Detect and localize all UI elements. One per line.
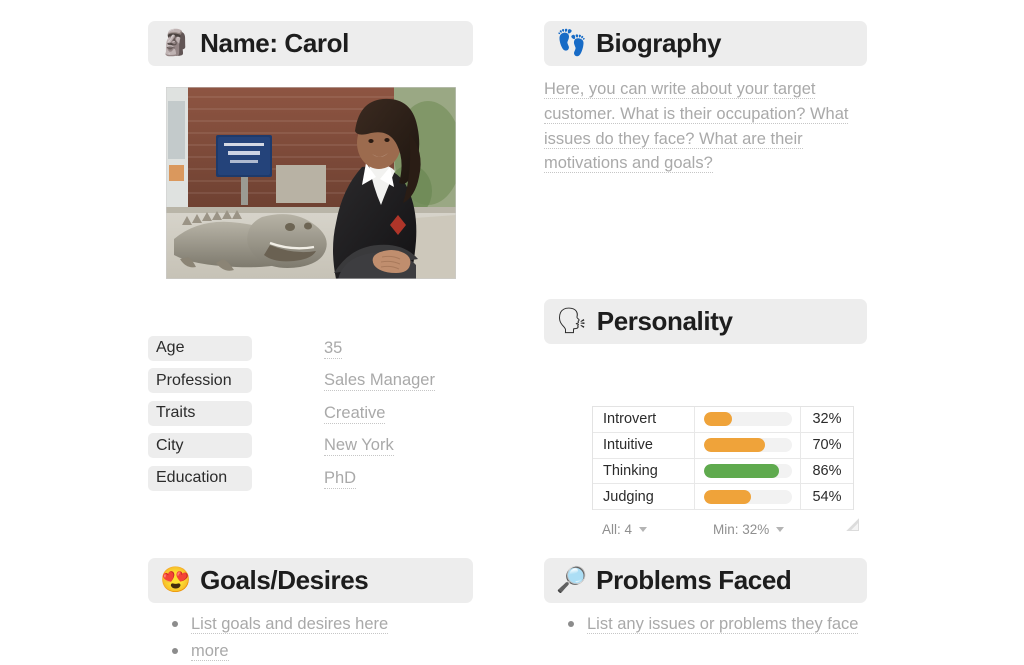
personality-trait-judging: Judging — [593, 484, 695, 509]
smiling-face-with-hearts-icon: 😍 — [160, 568, 191, 593]
chevron-down-icon — [776, 527, 784, 532]
personality-value-judging: 54% — [800, 484, 853, 509]
table-row[interactable]: Thinking 86% — [593, 459, 853, 485]
personality-trait-thinking: Thinking — [593, 459, 695, 484]
attribute-value-traits[interactable]: Creative — [324, 404, 385, 423]
attribute-label-age[interactable]: Age — [148, 336, 252, 361]
section-header-problems[interactable]: 🔎 Problems Faced — [544, 558, 867, 603]
table-row[interactable]: Intuitive 70% — [593, 433, 853, 459]
attribute-value-age[interactable]: 35 — [324, 339, 342, 358]
section-title-name: Name: Carol — [200, 28, 349, 59]
goals-item-0: List goals and desires here — [191, 615, 388, 634]
min-value-dropdown[interactable]: Min: 32% — [713, 522, 784, 537]
personality-value-thinking: 86% — [800, 459, 853, 484]
list-item[interactable]: List goals and desires here — [172, 612, 472, 637]
personality-footer: All: 4 Min: 32% — [592, 520, 854, 538]
footprints-icon: 👣 — [556, 31, 587, 56]
personality-bar-cell-intuitive — [695, 433, 800, 458]
progress-fill-introvert — [704, 412, 732, 426]
attribute-label-traits[interactable]: Traits — [148, 401, 252, 426]
section-title-personality: Personality — [597, 306, 733, 337]
problems-item-text: List any issues or problems they face — [587, 612, 858, 637]
chevron-down-icon — [639, 527, 647, 532]
personality-bar-cell-judging — [695, 484, 800, 509]
personality-value-introvert: 32% — [800, 407, 853, 432]
attribute-value-profession[interactable]: Sales Manager — [324, 371, 435, 390]
attribute-value-traits-text: Creative — [324, 404, 385, 424]
personality-chart: Introvert 32% Intuitive 70% Thinki — [592, 406, 854, 538]
attribute-row: Traits Creative — [148, 397, 478, 430]
attribute-value-education[interactable]: PhD — [324, 469, 356, 488]
magnifying-glass-icon: 🔎 — [556, 568, 587, 593]
attribute-value-profession-text: Sales Manager — [324, 371, 435, 391]
attribute-row: Age 35 — [148, 332, 478, 365]
personality-trait-introvert: Introvert — [593, 407, 695, 432]
attribute-label-profession[interactable]: Profession — [148, 368, 252, 393]
personality-bar-cell-thinking — [695, 459, 800, 484]
persona-page: 🗿 Name: Carol — [0, 0, 1024, 663]
section-title-goals: Goals/Desires — [200, 565, 368, 596]
resize-handle-icon[interactable] — [846, 518, 859, 531]
attribute-value-age-text: 35 — [324, 339, 342, 359]
bullet-icon — [172, 621, 178, 627]
progress-track-intuitive — [704, 438, 792, 452]
attributes-table: Age 35 Profession Sales Manager Traits C… — [148, 332, 478, 495]
section-header-personality[interactable]: 🗣 Personality — [544, 299, 867, 344]
bullet-icon — [172, 648, 178, 654]
biography-body[interactable]: Here, you can write about your target cu… — [544, 77, 874, 176]
goals-item-1: more — [191, 642, 229, 661]
problems-item-0: List any issues or problems they face — [587, 615, 858, 634]
personality-table: Introvert 32% Intuitive 70% Thinki — [592, 406, 854, 510]
attribute-row: Education PhD — [148, 462, 478, 495]
attribute-label-education[interactable]: Education — [148, 466, 252, 491]
progress-track-judging — [704, 490, 792, 504]
progress-track-introvert — [704, 412, 792, 426]
all-count-label: All: 4 — [602, 522, 632, 537]
goals-item-text: List goals and desires here — [191, 612, 388, 637]
persona-photo[interactable] — [166, 87, 456, 279]
section-header-biography[interactable]: 👣 Biography — [544, 21, 867, 66]
attribute-row: Profession Sales Manager — [148, 365, 478, 398]
table-row[interactable]: Introvert 32% — [593, 407, 853, 433]
progress-track-thinking — [704, 464, 792, 478]
list-item[interactable]: more — [172, 639, 472, 664]
attribute-label-city[interactable]: City — [148, 433, 252, 458]
progress-fill-judging — [704, 490, 752, 504]
all-count-dropdown[interactable]: All: 4 — [602, 522, 647, 537]
attribute-value-city-text: New York — [324, 436, 394, 456]
goals-item-text: more — [191, 639, 229, 664]
min-value-label: Min: 32% — [713, 522, 769, 537]
personality-value-intuitive: 70% — [800, 433, 853, 458]
section-title-biography: Biography — [596, 28, 721, 59]
list-item[interactable]: List any issues or problems they face — [568, 612, 868, 637]
speaking-head-icon: 🗣 — [556, 309, 588, 334]
progress-fill-intuitive — [704, 438, 766, 452]
section-header-goals[interactable]: 😍 Goals/Desires — [148, 558, 473, 603]
section-title-problems: Problems Faced — [596, 565, 791, 596]
attribute-row: City New York — [148, 430, 478, 463]
personality-bar-cell-introvert — [695, 407, 800, 432]
attribute-value-city[interactable]: New York — [324, 436, 394, 455]
section-header-name[interactable]: 🗿 Name: Carol — [148, 21, 473, 66]
persona-photo-image — [166, 87, 456, 279]
progress-fill-thinking — [704, 464, 780, 478]
goals-list: List goals and desires here more — [172, 612, 472, 665]
attribute-value-education-text: PhD — [324, 469, 356, 489]
table-row[interactable]: Judging 54% — [593, 484, 853, 510]
bullet-icon — [568, 621, 574, 627]
biography-body-text: Here, you can write about your target cu… — [544, 80, 848, 173]
moai-icon: 🗿 — [160, 31, 191, 56]
personality-trait-intuitive: Intuitive — [593, 433, 695, 458]
problems-list: List any issues or problems they face — [568, 612, 868, 639]
